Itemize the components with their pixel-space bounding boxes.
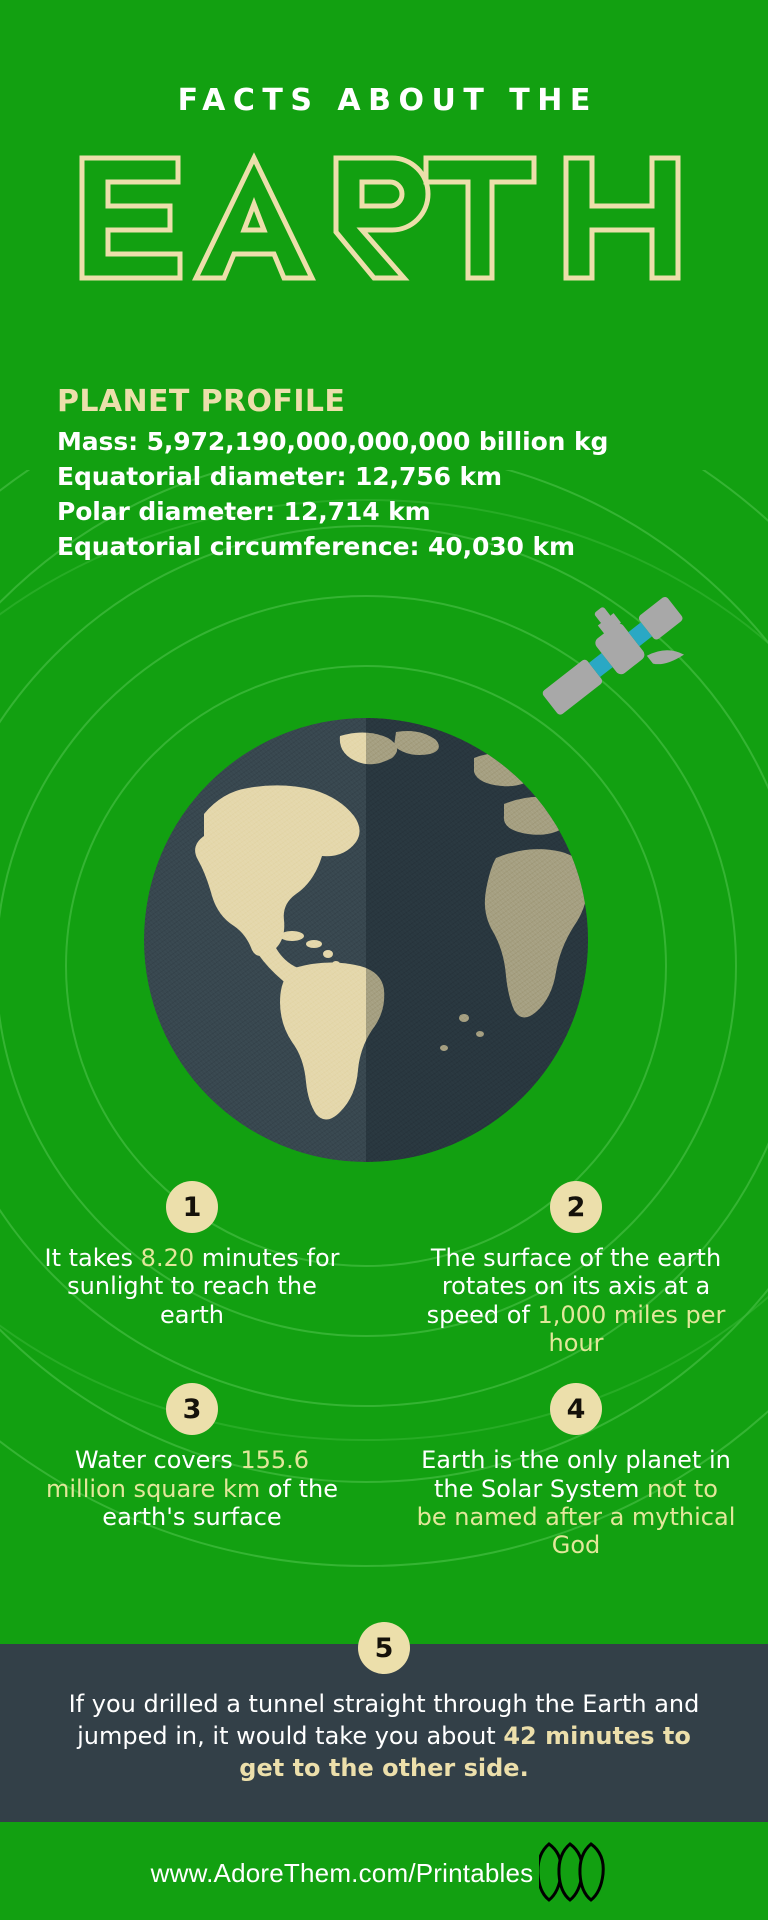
profile-line-mass: Mass: 5,972,190,000,000,000 billion kg <box>57 424 717 459</box>
footer-url[interactable]: www.AdoreThem.com/Printables <box>151 1858 534 1889</box>
fact-badge-1: 1 <box>166 1181 218 1233</box>
adore-them-leaves-logo <box>539 1840 617 1906</box>
fact-text-2: The surface of the earth rotates on its … <box>421 1244 731 1357</box>
fact-badge-5: 5 <box>358 1622 410 1674</box>
infographic-poster: FACTS ABOUT THE PLANET PROFILE Mass: 5,9… <box>0 0 768 1920</box>
fact-item-1: 1 It takes 8.20 minutes for sunlight to … <box>0 1181 384 1357</box>
planet-profile-block: PLANET PROFILE Mass: 5,972,190,000,000,0… <box>57 383 717 564</box>
profile-line-polar-diameter: Polar diameter: 12,714 km <box>57 494 717 529</box>
fact-item-4: 4 Earth is the only planet in the Solar … <box>384 1383 768 1559</box>
facts-grid: 1 It takes 8.20 minutes for sunlight to … <box>0 1181 768 1560</box>
page-title <box>0 152 768 292</box>
fact-text-1: It takes 8.20 minutes for sunlight to re… <box>42 1244 342 1329</box>
planet-profile-heading: PLANET PROFILE <box>57 383 717 421</box>
fact-badge-3: 3 <box>166 1383 218 1435</box>
profile-line-equatorial-diameter: Equatorial diameter: 12,756 km <box>57 459 717 494</box>
footer: www.AdoreThem.com/Printables <box>0 1826 768 1920</box>
page-kicker: FACTS ABOUT THE <box>0 83 768 118</box>
fact-text-3: Water covers 155.6 million square km of … <box>42 1446 342 1531</box>
fact-badge-4: 4 <box>550 1383 602 1435</box>
satellite-icon <box>527 585 697 725</box>
earth-globe-illustration <box>144 718 588 1162</box>
fact-badge-2: 2 <box>550 1181 602 1233</box>
profile-line-equatorial-circumference: Equatorial circumference: 40,030 km <box>57 529 717 564</box>
fact-text-4: Earth is the only planet in the Solar Sy… <box>416 1446 736 1559</box>
fact-item-2: 2 The surface of the earth rotates on it… <box>384 1181 768 1357</box>
fact-5-panel: 5 If you drilled a tunnel straight throu… <box>0 1644 768 1822</box>
fact-item-3: 3 Water covers 155.6 million square km o… <box>0 1383 384 1559</box>
